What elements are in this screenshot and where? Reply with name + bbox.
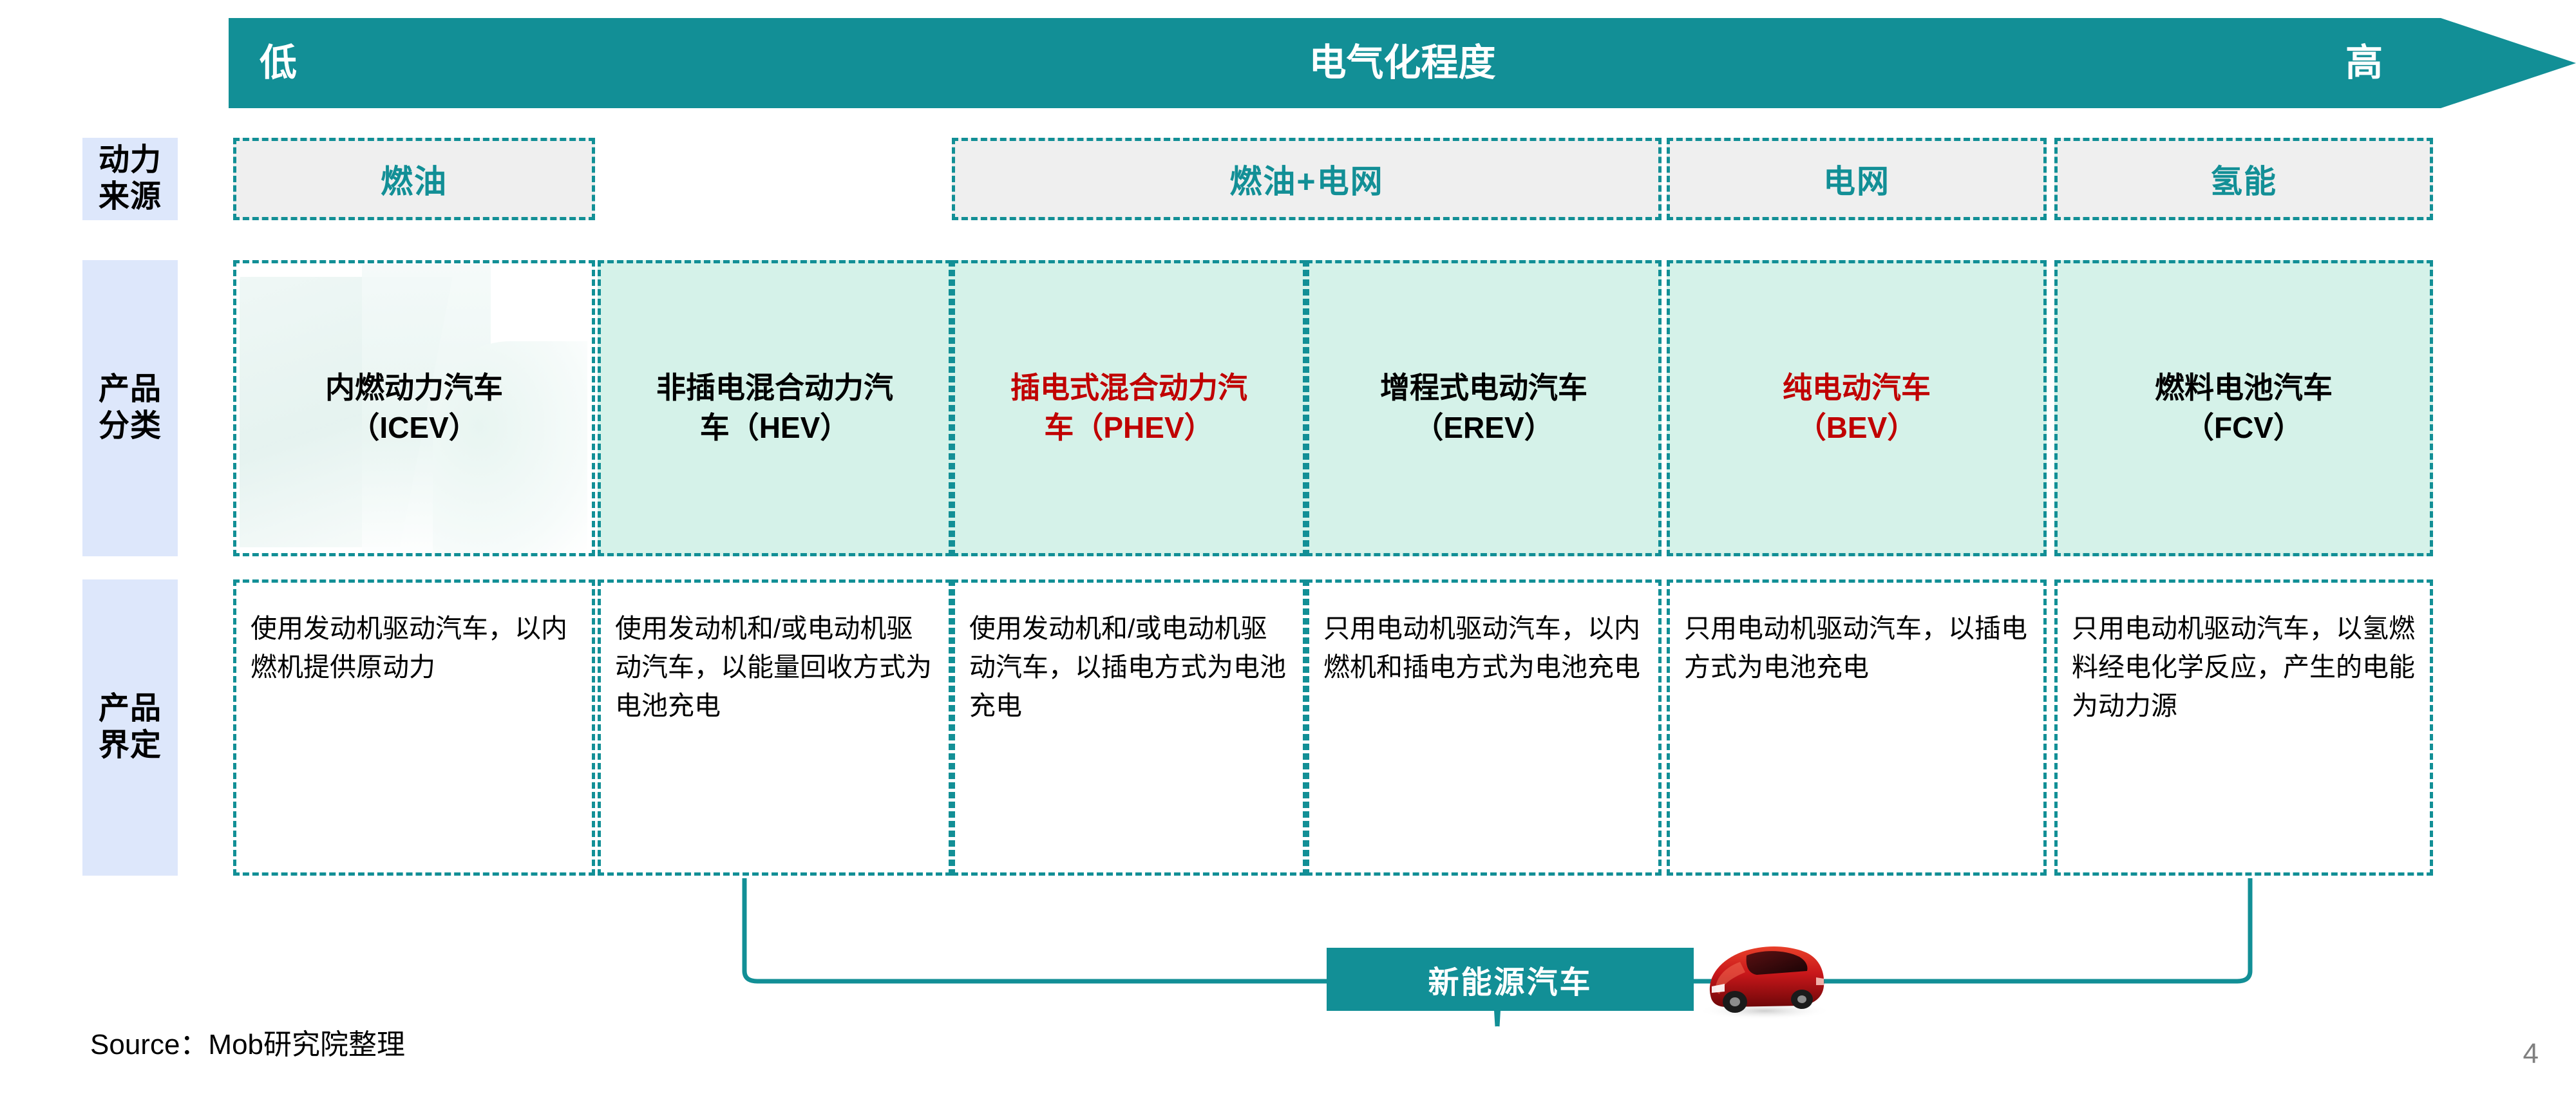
product-class-label-hev: 非插电混合动力汽 车（HEV） bbox=[656, 368, 893, 447]
power-source-label-1: 燃油+电网 bbox=[1229, 156, 1383, 202]
product-class-cell-bev: 纯电动汽车 （BEV） bbox=[1667, 260, 2047, 556]
power-source-cell-2: 电网 bbox=[1667, 138, 2047, 220]
power-source-cell-3: 氢能 bbox=[2054, 138, 2433, 220]
axis-title: 电气化程度 bbox=[229, 18, 2576, 108]
row-label-power-source: 动力 来源 bbox=[82, 138, 178, 220]
product-class-label-bev: 纯电动汽车 （BEV） bbox=[1783, 368, 1931, 447]
power-source-cell-0: 燃油 bbox=[233, 138, 595, 220]
product-definition-cell-erev: 只用电动机驱动汽车，以内燃机和插电方式为电池充电 bbox=[1306, 579, 1662, 876]
product-definition-cell-icev: 使用发动机驱动汽车，以内燃机提供原动力 bbox=[233, 579, 595, 876]
power-source-cell-1: 燃油+电网 bbox=[952, 138, 1662, 220]
power-source-label-3: 氢能 bbox=[2210, 156, 2277, 202]
product-definition-cell-bev: 只用电动机驱动汽车，以插电方式为电池充电 bbox=[1667, 579, 2047, 876]
product-definition-text-bev: 只用电动机驱动汽车，以插电方式为电池充电 bbox=[1684, 614, 2027, 682]
product-definition-text-icev: 使用发动机驱动汽车，以内燃机提供原动力 bbox=[251, 614, 567, 682]
product-class-cell-icev: 内燃动力汽车 （ICEV） bbox=[233, 260, 595, 556]
product-class-cell-erev: 增程式电动汽车 （EREV） bbox=[1306, 260, 1662, 556]
axis-high-label: 高 bbox=[2345, 18, 2383, 108]
product-definition-text-phev: 使用发动机和/或电动机驱动汽车，以插电方式为电池充电 bbox=[969, 614, 1286, 720]
product-class-label-fcv: 燃料电池汽车 （FCV） bbox=[2155, 368, 2333, 447]
product-class-label-phev: 插电式混合动力汽 车（PHEV） bbox=[1010, 368, 1247, 447]
product-class-cell-hev: 非插电混合动力汽 车（HEV） bbox=[598, 260, 952, 556]
nev-badge: 新能源汽车 bbox=[1327, 948, 1694, 1011]
red-sports-car-image bbox=[1687, 932, 1848, 1022]
product-definition-cell-fcv: 只用电动机驱动汽车，以氢燃料经电化学反应，产生的电能为动力源 bbox=[2054, 579, 2433, 876]
product-class-cell-phev: 插电式混合动力汽 车（PHEV） bbox=[952, 260, 1306, 556]
product-definition-text-erev: 只用电动机驱动汽车，以内燃机和插电方式为电池充电 bbox=[1323, 614, 1640, 682]
electrification-axis-arrow: 低 电气化程度 高 bbox=[229, 18, 2576, 108]
car-icon bbox=[1687, 932, 1848, 1022]
power-source-label-0: 燃油 bbox=[381, 156, 448, 202]
row-label-product-class: 产品 分类 bbox=[82, 260, 178, 556]
nev-badge-label: 新能源汽车 bbox=[1428, 957, 1592, 1002]
product-definition-text-hev: 使用发动机和/或电动机驱动汽车，以能量回收方式为电池充电 bbox=[615, 614, 932, 720]
row-label-product-definition: 产品 界定 bbox=[82, 579, 178, 876]
product-class-label-erev: 增程式电动汽车 （EREV） bbox=[1380, 368, 1587, 447]
source-note: Source：Mob研究院整理 bbox=[90, 1021, 405, 1062]
product-definition-cell-hev: 使用发动机和/或电动机驱动汽车，以能量回收方式为电池充电 bbox=[598, 579, 952, 876]
power-source-label-2: 电网 bbox=[1823, 156, 1890, 202]
row-label-product-definition-text: 产品 界定 bbox=[99, 691, 162, 764]
product-definition-cell-phev: 使用发动机和/或电动机驱动汽车，以插电方式为电池充电 bbox=[952, 579, 1306, 876]
page-number: 4 bbox=[2523, 1038, 2539, 1070]
product-class-cell-fcv: 燃料电池汽车 （FCV） bbox=[2054, 260, 2433, 556]
row-label-product-class-text: 产品 分类 bbox=[99, 372, 162, 444]
product-definition-text-fcv: 只用电动机驱动汽车，以氢燃料经电化学反应，产生的电能为动力源 bbox=[2072, 614, 2415, 720]
row-label-power-source-text: 动力 来源 bbox=[99, 142, 162, 215]
product-class-label-icev: 内燃动力汽车 （ICEV） bbox=[325, 368, 503, 447]
